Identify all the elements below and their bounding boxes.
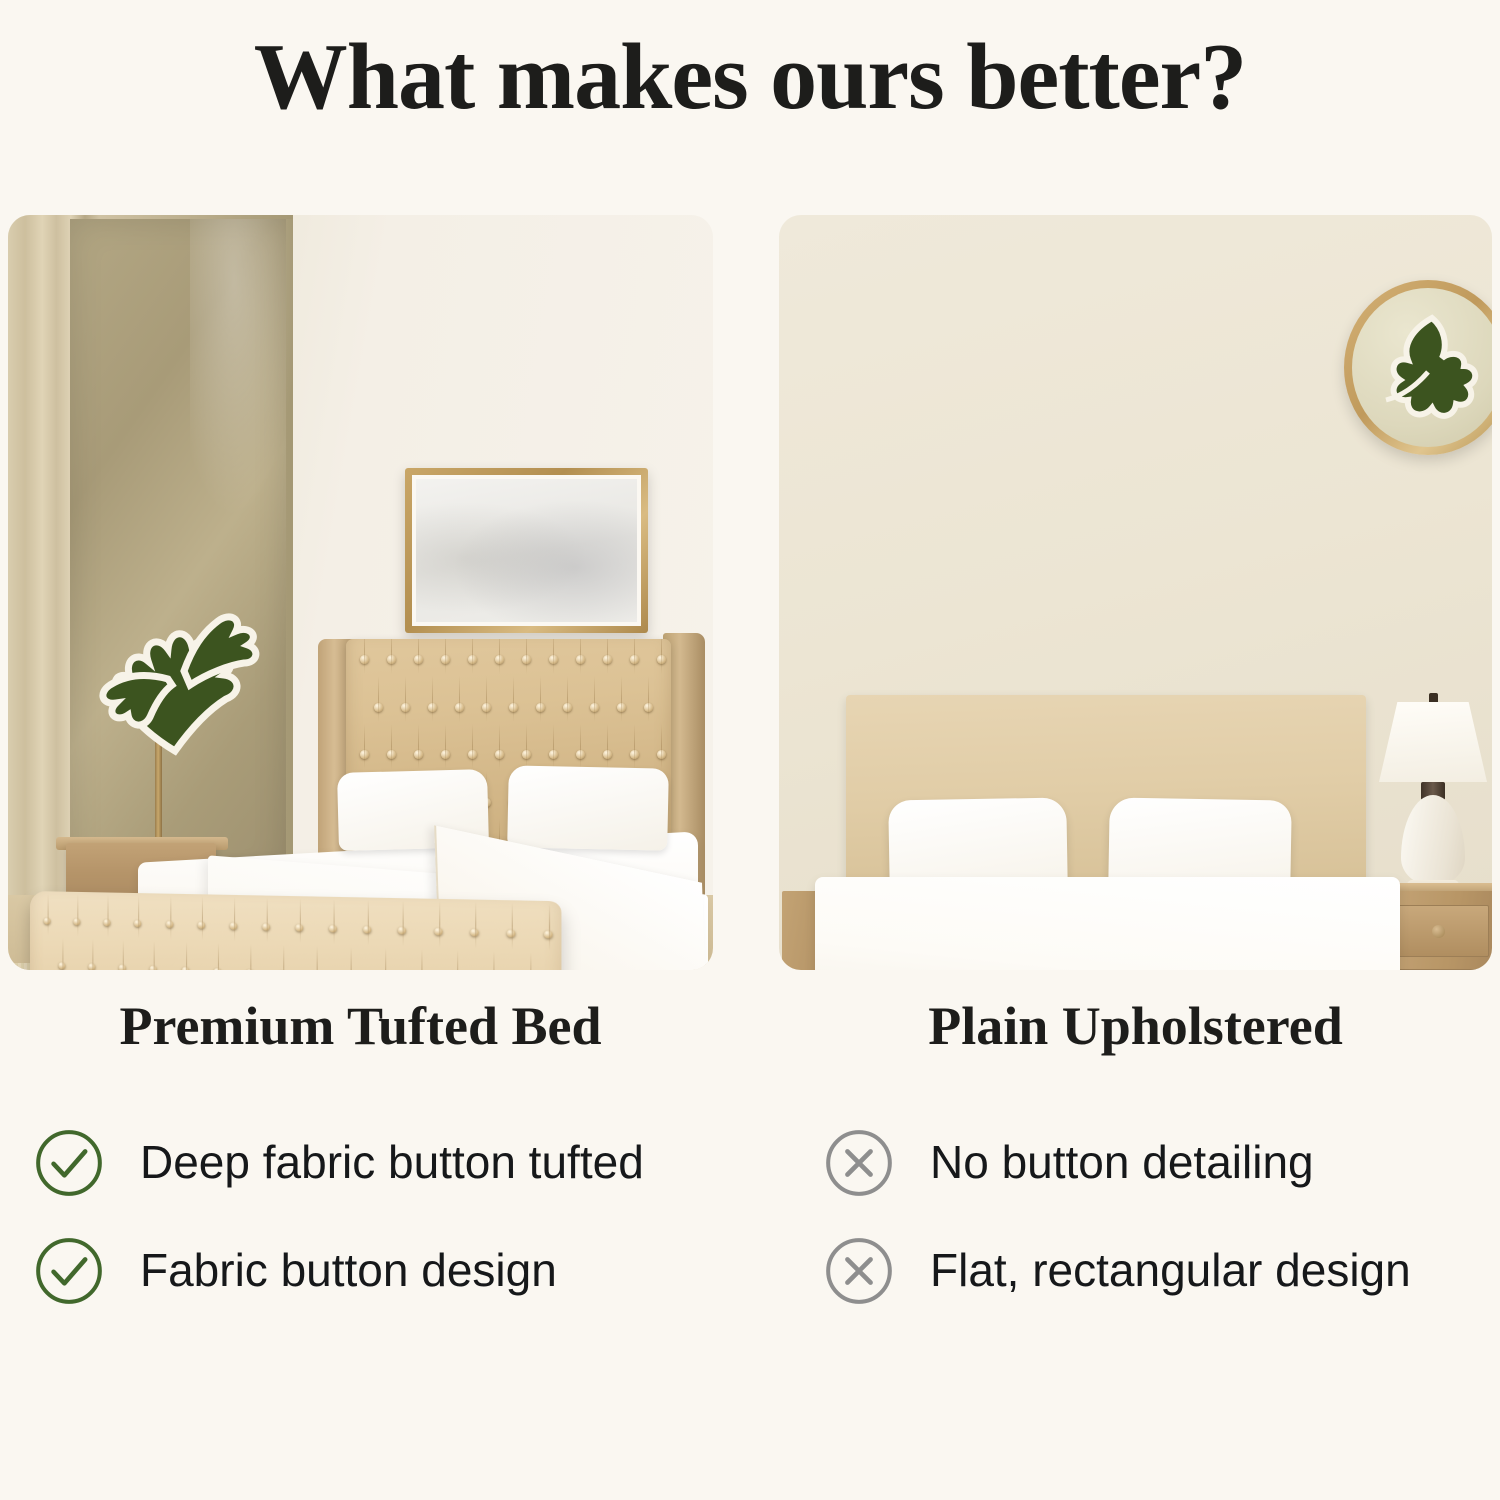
nightstand-drawer-lower — [1385, 969, 1489, 970]
footboard-tuft-grid — [30, 891, 561, 970]
monstera-plant-icon — [80, 551, 270, 761]
list-item: Flat, rectangular design — [822, 1238, 1482, 1308]
x-circle-icon — [822, 1234, 896, 1308]
left-feature-list: Deep fabric button tufted Fabric button … — [32, 1130, 692, 1346]
feature-label: No button detailing — [930, 1130, 1314, 1190]
x-circle-icon — [822, 1126, 896, 1200]
list-item: Deep fabric button tufted — [32, 1130, 692, 1200]
feature-label: Fabric button design — [140, 1238, 557, 1298]
nightstand-drawer-upper — [1385, 905, 1489, 957]
wall-art-frame — [405, 468, 648, 633]
left-caption: Premium Tufted Bed — [8, 995, 713, 1065]
plain-upholstered-bed-image — [779, 215, 1492, 970]
left-pillow-2 — [507, 765, 669, 850]
leaf-icon — [1358, 308, 1492, 438]
abstract-artwork — [416, 479, 637, 622]
premium-tufted-bed-image — [8, 215, 713, 970]
round-mirror-glass — [1352, 288, 1492, 447]
tufted-footboard — [30, 891, 561, 970]
list-item: No button detailing — [822, 1130, 1482, 1200]
mirror-gleam — [190, 219, 300, 519]
list-item: Fabric button design — [32, 1238, 692, 1308]
check-circle-icon — [32, 1126, 106, 1200]
feature-label: Flat, rectangular design — [930, 1238, 1411, 1298]
drawer-knob-upper — [1432, 925, 1445, 938]
feature-label: Deep fabric button tufted — [140, 1130, 644, 1190]
art-mat — [412, 475, 641, 626]
check-circle-icon — [32, 1234, 106, 1308]
page-title: What makes ours better? — [0, 28, 1500, 127]
right-feature-list: No button detailing Flat, rectangular de… — [822, 1130, 1482, 1346]
table-lamp-shade — [1379, 702, 1487, 782]
wardrobe-mirror-panel — [70, 219, 286, 881]
right-mattress — [815, 877, 1400, 970]
round-mirror — [1344, 280, 1492, 455]
right-caption: Plain Upholstered — [779, 995, 1492, 1065]
